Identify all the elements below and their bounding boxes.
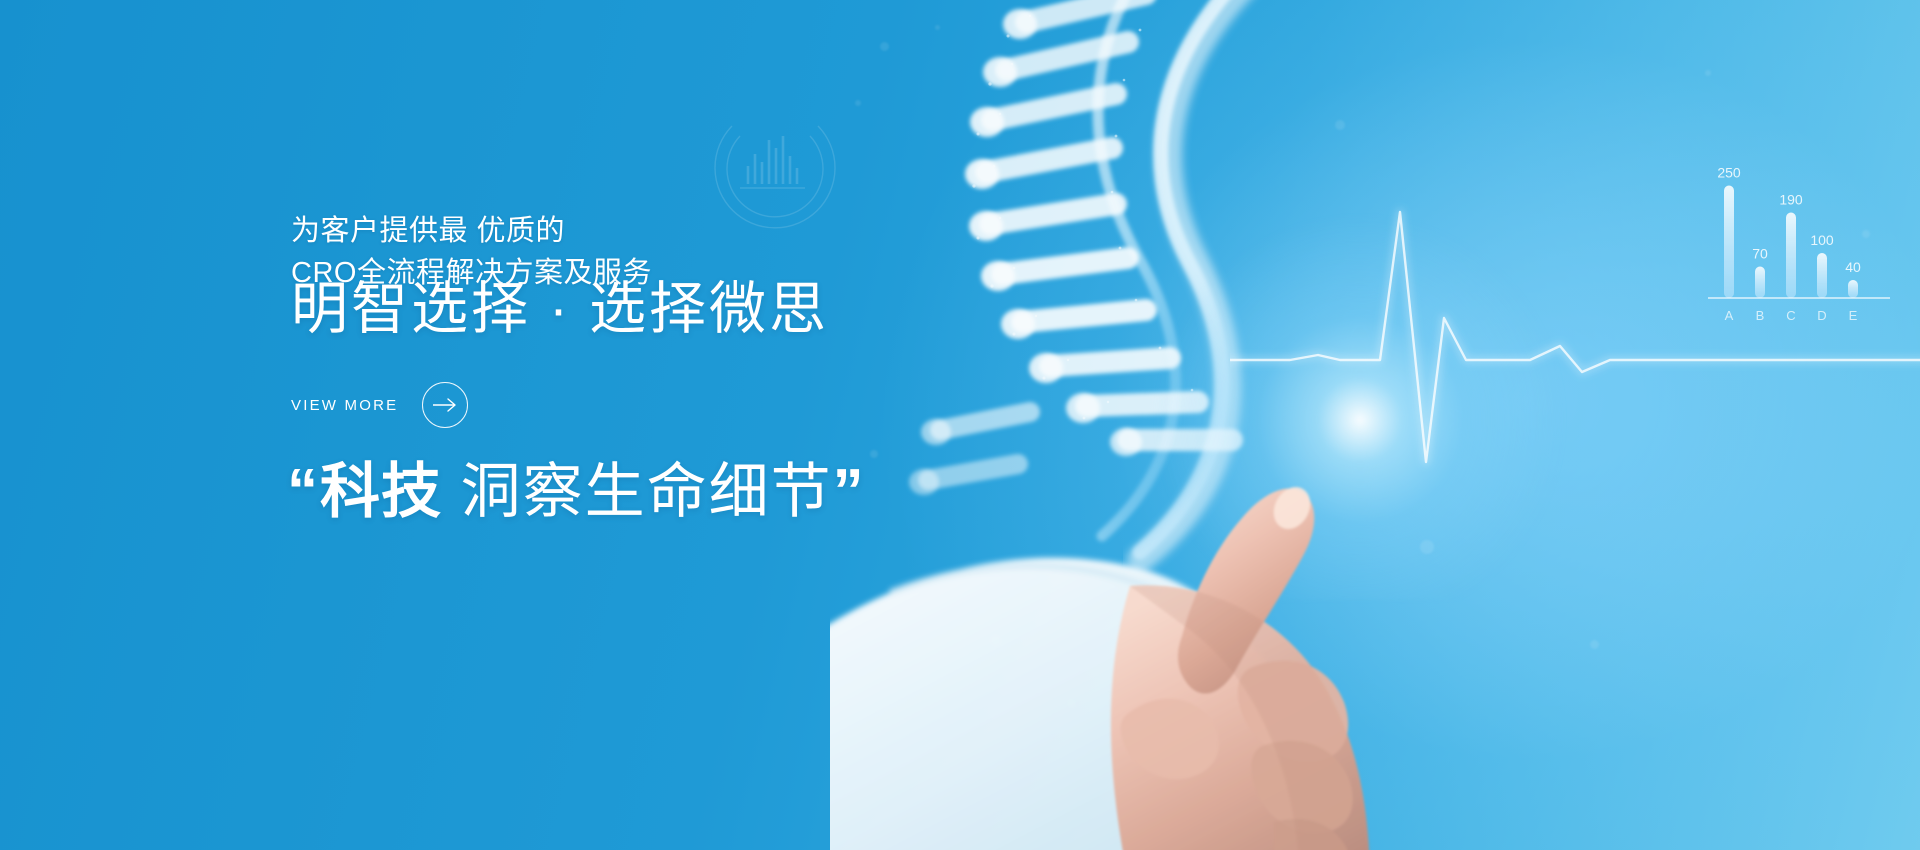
quote-light-text: 洞察生命细节 — [442, 458, 833, 525]
quote-open-mark: “ — [287, 457, 320, 526]
hero-quote: “科技 洞察生命细节” — [287, 452, 866, 532]
bar-D — [1817, 253, 1827, 298]
bar-value-label: 100 — [1810, 232, 1834, 248]
bar-chart-svg: 250 70 190 100 40 A B C D E — [1700, 148, 1900, 348]
bar-B — [1755, 267, 1765, 299]
hero-copy: 为客户提供最 优质的 CRO全流程解决方案及服务 明智选择·选择微思 VIEW … — [291, 0, 1111, 850]
bar-value-label: 190 — [1779, 192, 1803, 208]
bar-C — [1786, 213, 1796, 299]
hero-banner: 250 70 190 100 40 A B C D E 为 — [0, 0, 1920, 850]
bar-E — [1848, 280, 1858, 298]
arrow-right-icon[interactable] — [422, 382, 468, 428]
bokeh-dot — [1705, 70, 1711, 76]
bar-category-label: C — [1786, 308, 1795, 323]
hero-subtitle-line1: 为客户提供最 优质的 — [291, 215, 565, 247]
hero-headline-part1: 明智选择 — [291, 277, 531, 341]
bar-A — [1724, 186, 1734, 299]
view-more-button[interactable]: VIEW MORE — [291, 382, 468, 428]
view-more-label: VIEW MORE — [291, 397, 398, 414]
bar-value-label: 250 — [1717, 165, 1741, 181]
bar-value-label: 40 — [1845, 259, 1861, 275]
bar-category-label: E — [1849, 308, 1858, 323]
bar-chart: 250 70 190 100 40 A B C D E — [1700, 148, 1900, 348]
bar-category-label: B — [1756, 308, 1765, 323]
hero-headline-separator: · — [531, 277, 589, 341]
hero-headline-part2: 选择微思 — [589, 277, 829, 341]
bar-category-label: D — [1817, 308, 1826, 323]
bar-category-label: A — [1725, 308, 1734, 323]
quote-close-mark: ” — [833, 457, 866, 526]
quote-strong-text: 科技 — [320, 458, 442, 525]
hero-headline: 明智选择·选择微思 — [291, 272, 829, 346]
bar-value-label: 70 — [1752, 246, 1768, 262]
